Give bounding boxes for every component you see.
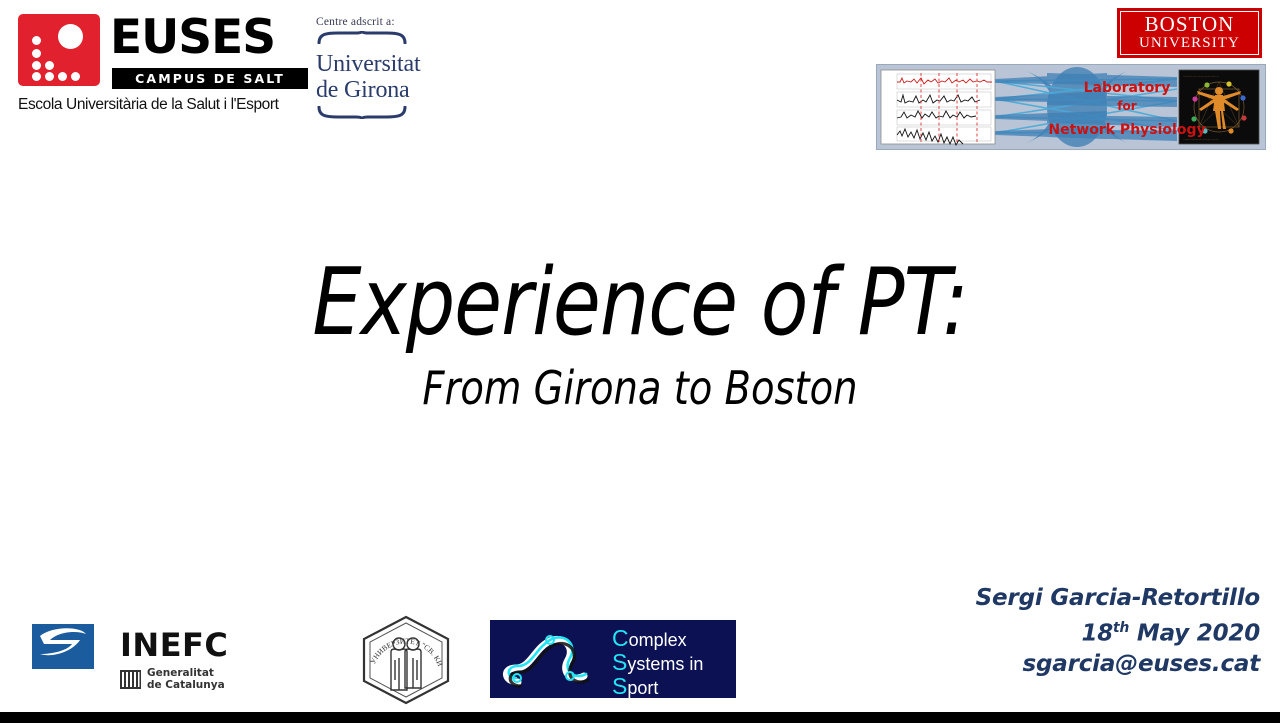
generalitat-flag-icon [120,670,141,689]
css-rest-systems: ystems in [627,654,703,674]
bottom-bar [0,712,1280,723]
bu-line2: UNIVERSITY [1139,35,1240,52]
udg-adscrit-label: Centre adscrit a: [316,16,456,28]
euses-dot-mark-icon [18,14,100,86]
generalitat-text: Generalitat de Catalunya [147,668,225,691]
seal-icon: УНИВЕРЗИТЕТ "СВ. КИРИЛ И МЕТОДИЈ" - СКОП… [358,614,454,706]
css-rest-complex: omplex [629,630,687,650]
css-rest-sport: port [627,678,658,698]
css-swirl-icon [490,620,610,698]
vitruvian-man-panel: Vitruvian notes lorem ipsum dolor sit Co… [1179,70,1259,144]
presentation-date: 18th May 2020 [976,613,1260,649]
date-rest: May 2020 [1129,621,1260,647]
svg-text:Complex human physiology netwo: Complex human physiology network [1183,138,1219,141]
css-wordmark: Complex Systems in Sport [612,628,703,698]
banner-graphic: Vitruvian notes lorem ipsum dolor sit Co… [877,65,1265,149]
inefc-wordmark: INEFC [120,626,228,664]
slide-subtitle: From Girona to Boston [45,362,1235,414]
complex-systems-in-sport-logo: Complex Systems in Sport [490,620,736,698]
slide-canvas: EUSES CAMPUS DE SALT Escola Universitàri… [0,0,1280,723]
universitat-de-girona-logo: Centre adscrit a: Universitat de Girona [316,16,456,134]
css-cap-s2: S [612,673,627,698]
svg-text:Vitruvian notes lorem ipsum do: Vitruvian notes lorem ipsum dolor sit [1183,75,1219,78]
date-number: 18 [1081,621,1113,647]
css-cap-c: C [612,625,629,651]
udg-name-line1: Universitat [316,51,456,77]
author-name: Sergi Garcia-Retortillo [976,583,1260,613]
slide-title: Experience of PT: [45,252,1235,352]
euses-campus-band: CAMPUS DE SALT [112,68,308,89]
title-block: Experience of PT: From Girona to Boston [0,252,1280,414]
network-physiology-banner: Vitruvian notes lorem ipsum dolor sit Co… [876,64,1266,150]
udg-brace-top-icon [316,31,408,44]
inefc-logo: INEFC Generalitat de Catalunya [32,624,252,696]
css-cap-s1: S [612,649,627,675]
author-email[interactable]: sgarcia@euses.cat [976,649,1260,679]
css-row-sport: Sport [612,676,703,698]
euses-tagline: Escola Universitària de la Salut i l'Esp… [18,96,308,114]
signal-traces-panel [881,70,995,145]
euses-wordmark: EUSES [110,12,275,64]
udg-brace-bottom-icon [316,106,408,119]
udg-name: Universitat de Girona [316,51,456,103]
boston-university-logo: BOSTON UNIVERSITY [1117,8,1262,58]
bu-line1: BOSTON [1145,14,1235,35]
generalitat-line2: de Catalunya [147,680,225,692]
date-ordinal: th [1113,620,1129,636]
author-block: Sergi Garcia-Retortillo 18th May 2020 sg… [976,583,1260,679]
euses-logo: EUSES CAMPUS DE SALT Escola Universitàri… [18,14,308,119]
generalitat-line1: Generalitat [147,668,225,680]
udg-name-line2: de Girona [316,77,456,103]
generalitat-block: Generalitat de Catalunya [120,668,225,691]
inefc-mark-icon [32,624,94,669]
university-seal-logo: УНИВЕРЗИТЕТ "СВ. КИРИЛ И МЕТОДИЈ" - СКОП… [358,614,454,706]
